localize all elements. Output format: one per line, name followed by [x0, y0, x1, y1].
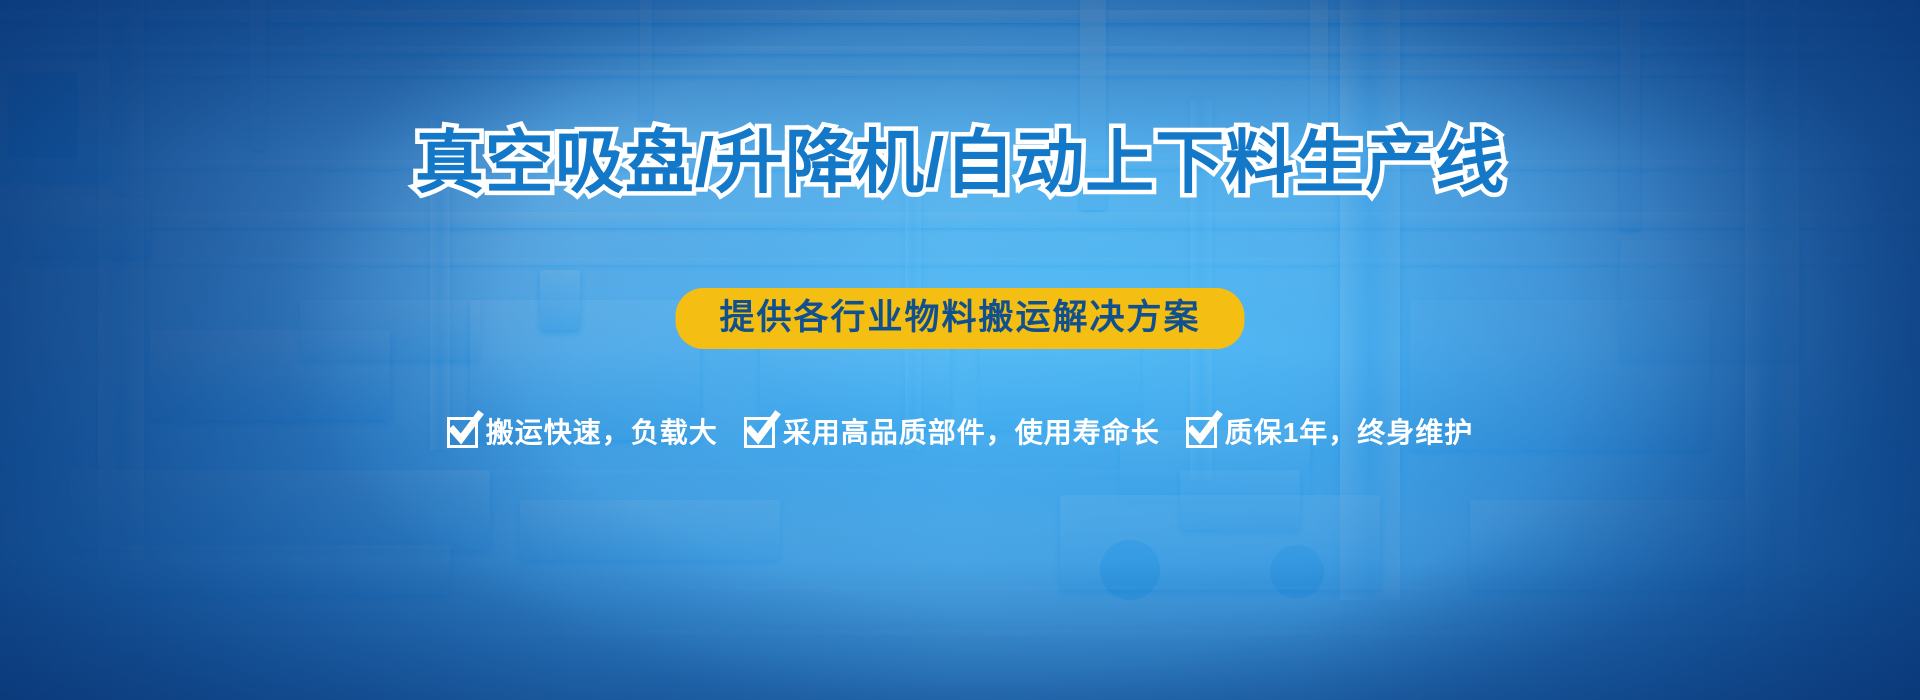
feature-item-1: 搬运快速，负载大 [447, 417, 718, 448]
check-icon [1186, 417, 1217, 448]
banner-subtitle-pill: 提供各行业物料搬运解决方案 [675, 288, 1244, 349]
feature-label-1: 搬运快速，负载大 [486, 419, 718, 447]
feature-item-3: 质保1年，终身维护 [1186, 417, 1474, 448]
banner-content: 真空吸盘/升降机/自动上下料生产线 提供各行业物料搬运解决方案 搬运快速，负载大… [0, 0, 1920, 700]
check-icon [447, 417, 478, 448]
feature-list: 搬运快速，负载大 采用高品质部件，使用寿命长 质保1年，终身维护 [0, 417, 1920, 448]
banner-headline: 真空吸盘/升降机/自动上下料生产线 [0, 128, 1920, 197]
feature-label-3: 质保1年，终身维护 [1225, 419, 1474, 447]
feature-label-2: 采用高品质部件，使用寿命长 [783, 419, 1160, 447]
feature-item-2: 采用高品质部件，使用寿命长 [744, 417, 1160, 448]
hero-banner: 真空吸盘/升降机/自动上下料生产线 提供各行业物料搬运解决方案 搬运快速，负载大… [0, 0, 1920, 700]
check-icon [744, 417, 775, 448]
